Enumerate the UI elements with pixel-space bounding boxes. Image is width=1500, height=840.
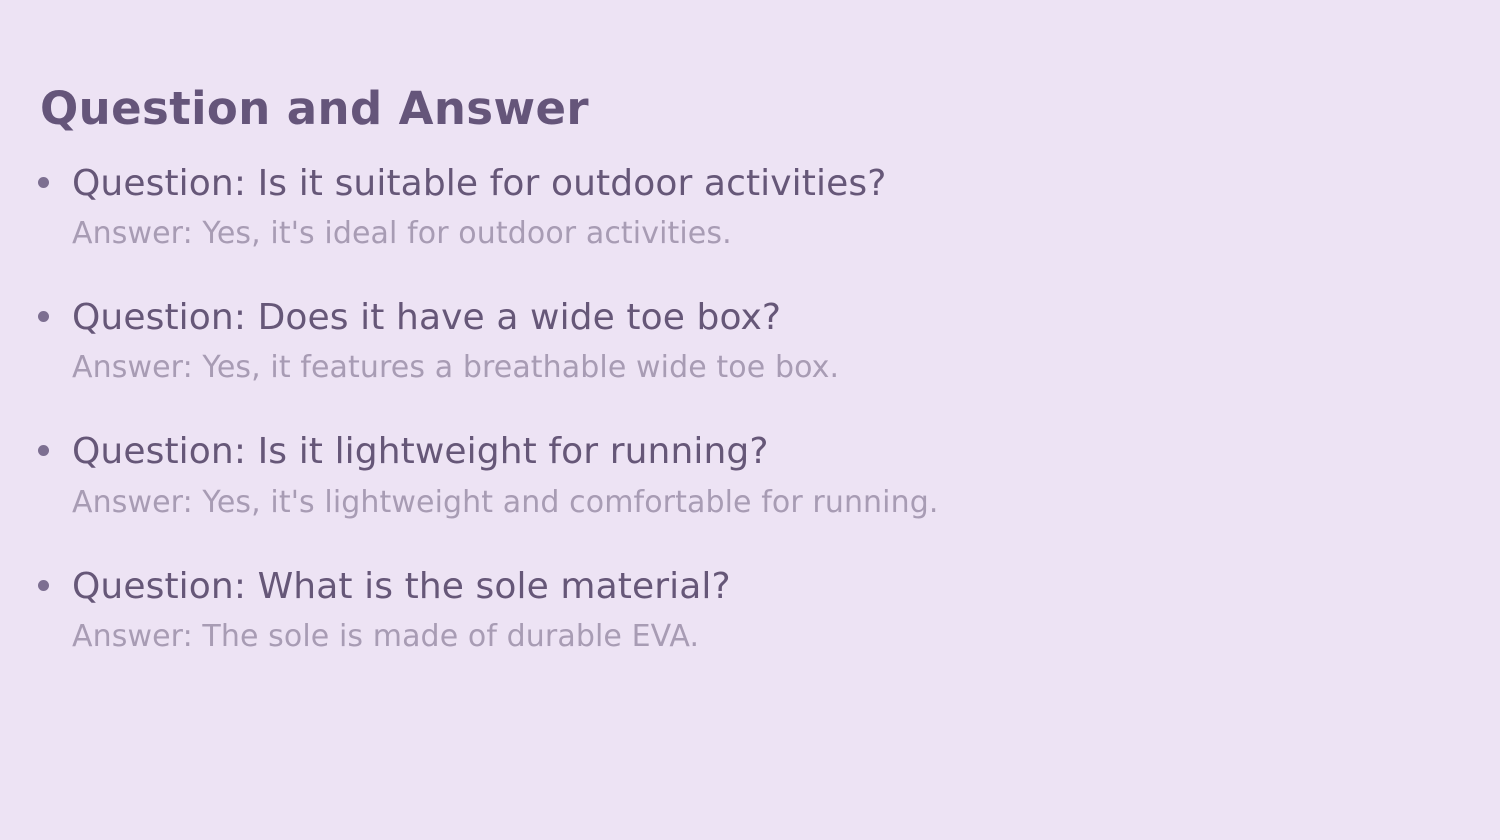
- list-item: Question: What is the sole material? Ans…: [0, 563, 1500, 656]
- qa-list: Question: Is it suitable for outdoor act…: [0, 160, 1500, 656]
- qa-page: Question and Answer Question: Is it suit…: [0, 0, 1500, 840]
- qa-question: Question: Is it suitable for outdoor act…: [72, 160, 1500, 208]
- bullet-icon: [38, 311, 49, 322]
- qa-question: Question: Does it have a wide toe box?: [72, 294, 1500, 342]
- qa-answer: Answer: Yes, it's lightweight and comfor…: [72, 483, 1500, 522]
- qa-answer: Answer: The sole is made of durable EVA.: [72, 617, 1500, 656]
- list-item: Question: Is it suitable for outdoor act…: [0, 160, 1500, 253]
- qa-answer: Answer: Yes, it features a breathable wi…: [72, 348, 1500, 387]
- bullet-icon: [38, 445, 49, 456]
- qa-question: Question: What is the sole material?: [72, 563, 1500, 611]
- qa-answer: Answer: Yes, it's ideal for outdoor acti…: [72, 214, 1500, 253]
- qa-question: Question: Is it lightweight for running?: [72, 428, 1500, 476]
- page-title: Question and Answer: [40, 85, 589, 132]
- bullet-icon: [38, 177, 49, 188]
- list-item: Question: Is it lightweight for running?…: [0, 428, 1500, 521]
- bullet-icon: [38, 580, 49, 591]
- list-item: Question: Does it have a wide toe box? A…: [0, 294, 1500, 387]
